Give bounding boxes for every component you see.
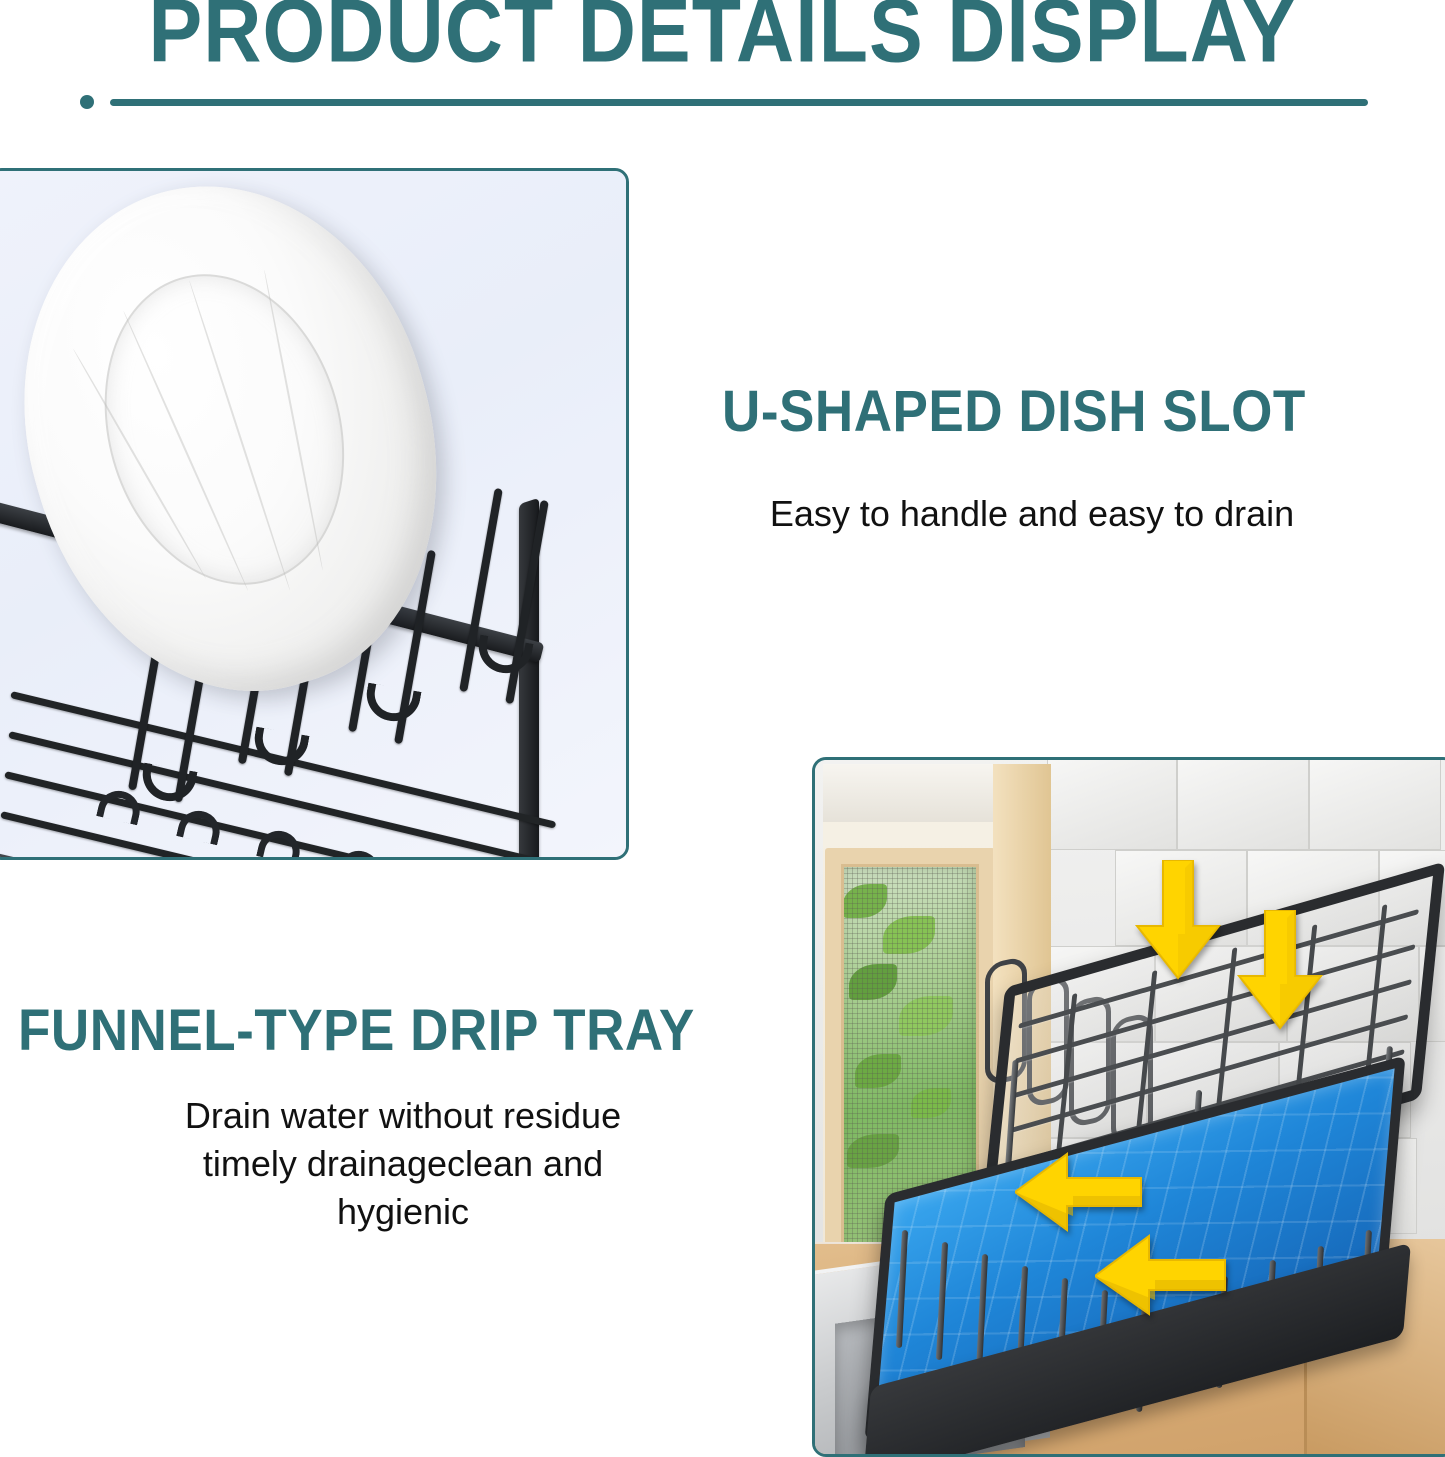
feature-title-text: U-SHAPED DISH SLOT	[722, 378, 1306, 445]
down-arrow-icon	[1133, 860, 1223, 980]
kitchen-scene	[815, 760, 1445, 1454]
page-title-text: PRODUCT DETAILS DISPLAY	[149, 0, 1297, 83]
banner-divider	[80, 92, 1370, 112]
plate-inner-ring	[69, 245, 379, 613]
down-arrow-icon	[1235, 910, 1325, 1030]
photo-u-shaped-slot	[0, 168, 629, 860]
wall-tile	[1309, 757, 1441, 850]
feature-description-funnel-type-drip-tray: Drain water without residue timely drain…	[42, 1092, 764, 1237]
left-arrow-icon	[1095, 1230, 1227, 1318]
left-arrow-icon	[1015, 1148, 1143, 1234]
divider-dot-icon	[80, 95, 94, 109]
feature-description-u-shaped-dish-slot: Easy to handle and easy to drain	[702, 490, 1362, 538]
page-title: PRODUCT DETAILS DISPLAY	[73, 0, 1373, 75]
wall-tile	[1047, 757, 1177, 850]
feature-title-text: FUNNEL-TYPE DRIP TRAY	[18, 997, 695, 1064]
photo-drip-tray	[812, 757, 1445, 1457]
feature-title-funnel-type-drip-tray: FUNNEL-TYPE DRIP TRAY	[18, 1001, 681, 1061]
wall-tile	[1177, 757, 1309, 850]
description-line: hygienic	[42, 1188, 764, 1236]
description-line: Drain water without residue	[42, 1092, 764, 1140]
page-banner: PRODUCT DETAILS DISPLAY	[0, 0, 1445, 150]
divider-line	[110, 99, 1368, 106]
description-line: timely drainageclean and	[42, 1140, 764, 1188]
feature-title-u-shaped-dish-slot: U-SHAPED DISH SLOT	[722, 382, 1294, 442]
dish-rack-closeup-scene	[0, 171, 626, 857]
